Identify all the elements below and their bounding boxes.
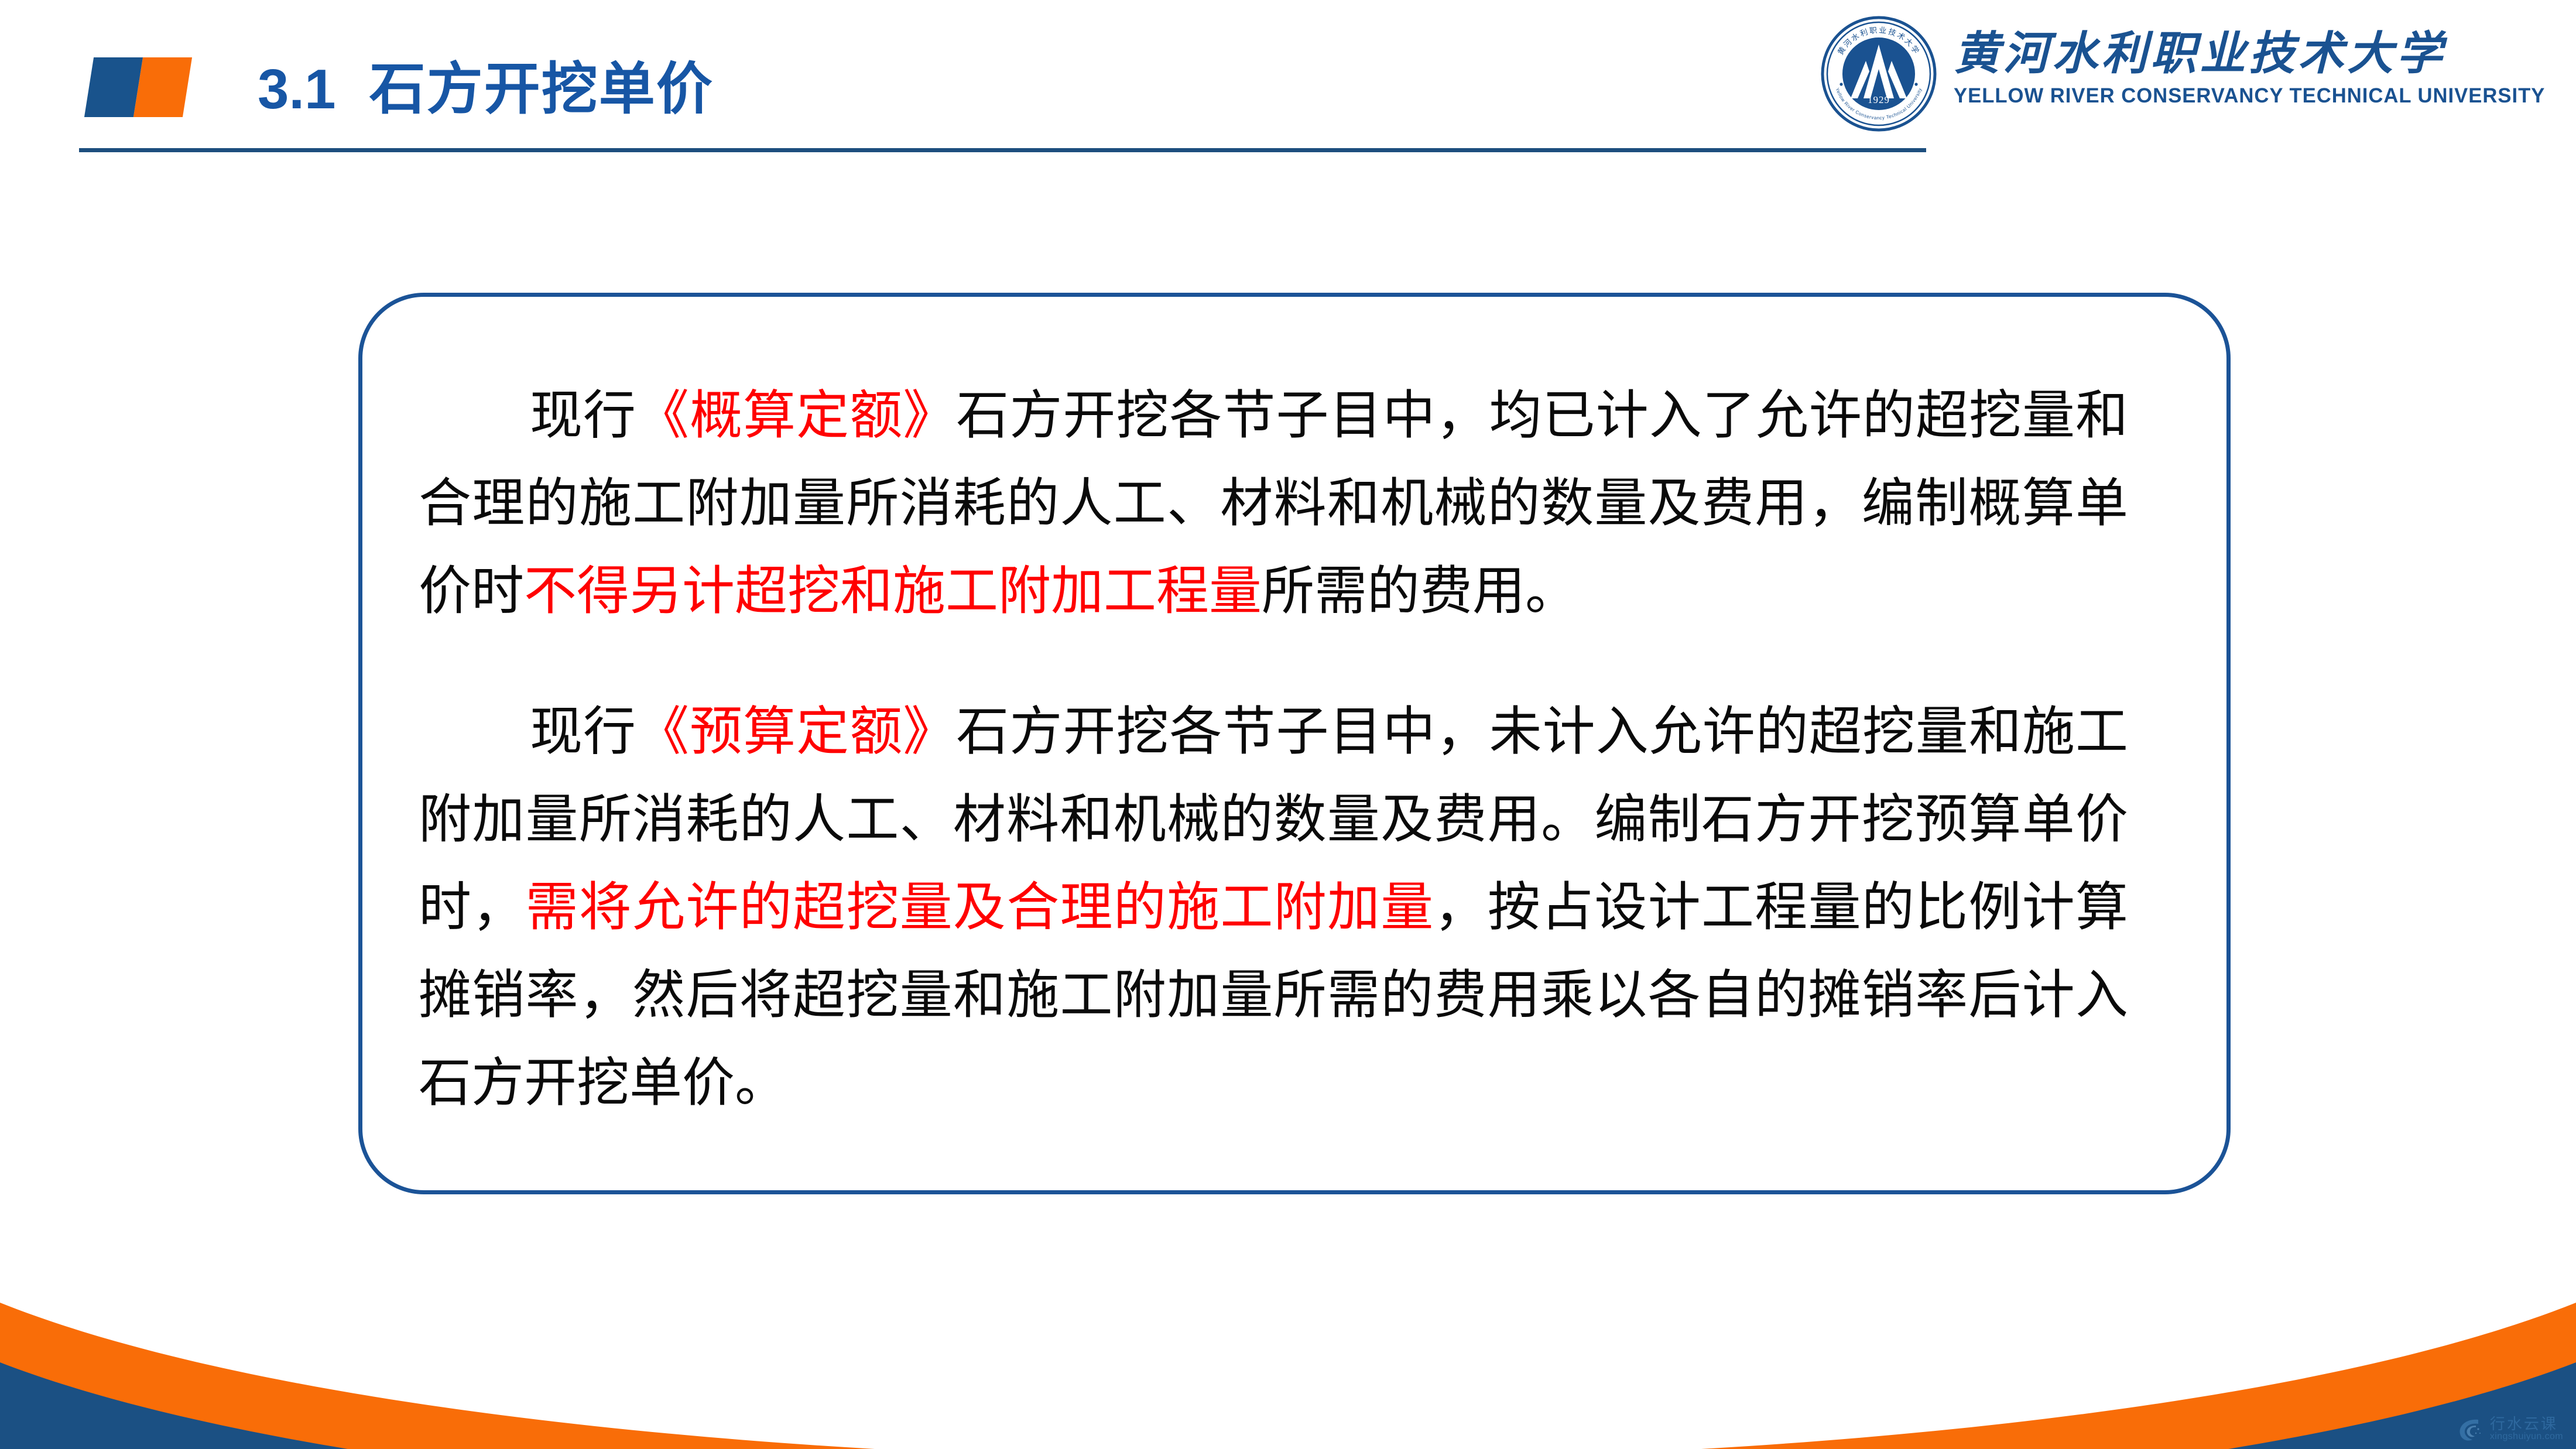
slide-header: 3.1 石方开挖单价 1929 黄河水利职业技术大学 Yellow River … [0, 0, 2576, 176]
university-logo: 1929 黄河水利职业技术大学 Yellow River Conservancy… [1820, 15, 2551, 138]
header-accent-bar-blue [84, 57, 143, 117]
paragraph-concept-budget-quota: 现行《概算定额》石方开挖各节子目中，均已计入了允许的超挖量和合理的施工附加量所消… [419, 372, 2128, 635]
p2-highlight-yusuan-dinge: 《预算定额》 [636, 703, 956, 761]
p2-seg-lead: 现行 [530, 703, 636, 761]
page-title-number: 3.1 [258, 58, 335, 121]
p1-highlight-no-extra-charge: 不得另计超挖和施工附加工程量 [524, 562, 1262, 621]
university-name-cn: 黄河水利职业技术大学 [1954, 27, 2551, 81]
p2-highlight-overbreak-and-addition: 需将允许的超挖量及合理的施工附加量 [526, 878, 1434, 937]
watermark: 行水云课 xingshuiyun.com [2455, 1414, 2563, 1444]
paragraph-estimate-budget-quota: 现行《预算定额》石方开挖各节子目中，未计入允许的超挖量和施工附加量所消耗的人工、… [419, 688, 2128, 1127]
wave-swirl-icon [2455, 1414, 2485, 1444]
p1-seg-lead: 现行 [530, 386, 636, 445]
watermark-name: 行水云课 [2490, 1416, 2563, 1432]
watermark-url: xingshuiyun.com [2490, 1432, 2563, 1442]
university-name-block: 黄河水利职业技术大学 YELLOW RIVER CONSERVANCY TECH… [1954, 15, 2551, 108]
page-title: 3.1 石方开挖单价 [258, 57, 714, 122]
p1-highlight-gaisuan-dinge: 《概算定额》 [636, 386, 956, 445]
svg-text:1929: 1929 [1868, 94, 1890, 105]
watermark-text: 行水云课 xingshuiyun.com [2490, 1416, 2563, 1442]
university-seal-icon: 1929 黄河水利职业技术大学 Yellow River Conservancy… [1820, 15, 1937, 132]
header-divider [79, 148, 1926, 152]
content-rounded-box: 现行《概算定额》石方开挖各节子目中，均已计入了允许的超挖量和合理的施工附加量所消… [358, 293, 2231, 1194]
page-title-text: 石方开挖单价 [369, 58, 714, 121]
header-accent-bar-orange [133, 57, 192, 117]
bottom-wave-decoration [0, 1238, 2576, 1449]
content-body: 现行《概算定额》石方开挖各节子目中，均已计入了允许的超挖量和合理的施工附加量所消… [419, 319, 2128, 1180]
p1-seg-tail: 所需的费用。 [1262, 562, 1578, 621]
university-name-en: YELLOW RIVER CONSERVANCY TECHNICAL UNIVE… [1954, 84, 2545, 108]
